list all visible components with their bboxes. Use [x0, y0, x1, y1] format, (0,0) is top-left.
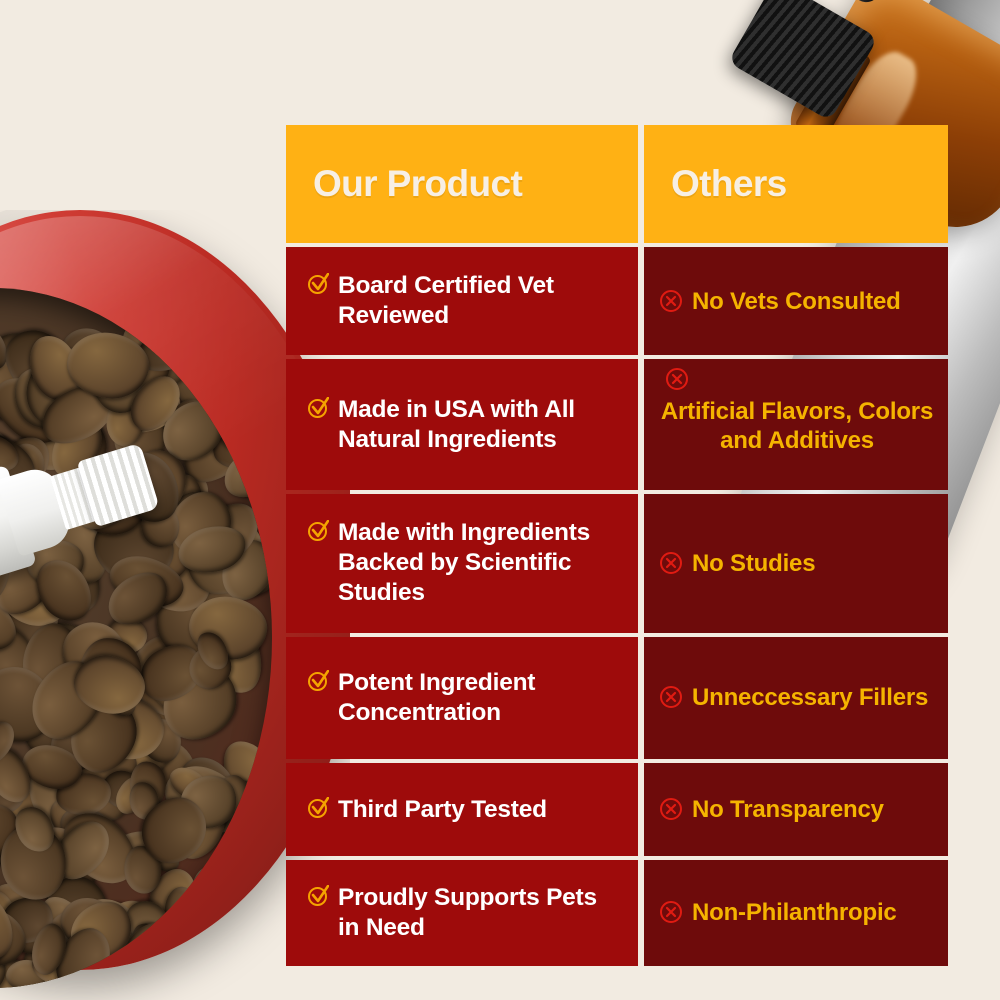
pro-label: Made with Ingredients Backed by Scientif… [338, 518, 620, 608]
check-circle-icon [308, 887, 331, 910]
pro-label: Third Party Tested [338, 795, 547, 825]
check-circle-icon [308, 799, 331, 822]
header-label-others: Others [644, 163, 787, 205]
pro-cell: Made in USA with All Natural Ingredients [286, 359, 638, 490]
pro-label: Potent Ingredient Concentration [338, 668, 620, 728]
comparison-table: Our Product Others Board Certified Vet R… [286, 125, 948, 966]
table-header-row: Our Product Others [286, 125, 948, 243]
infographic-canvas: h Norman! Our Product Others [0, 0, 1000, 1000]
con-label: Unneccessary Fillers [692, 683, 928, 712]
pro-cell: Proudly Supports Pets in Need [286, 860, 638, 966]
con-label: No Studies [692, 549, 815, 578]
header-cell-our-product: Our Product [286, 125, 638, 243]
table-row: Made with Ingredients Backed by Scientif… [286, 494, 948, 633]
check-circle-icon [308, 522, 331, 545]
kibble-bed [0, 288, 272, 988]
table-row: Board Certified Vet Reviewed No Vets Con… [286, 247, 948, 355]
x-circle-icon [660, 290, 685, 315]
pro-cell: Third Party Tested [286, 763, 638, 855]
header-cell-others: Others [644, 125, 948, 243]
con-label: No Vets Consulted [692, 287, 901, 316]
con-cell: No Transparency [644, 763, 948, 855]
pro-cell: Made with Ingredients Backed by Scientif… [286, 494, 638, 633]
table-row: Proudly Supports Pets in Need Non-Philan… [286, 860, 948, 966]
table-row: Third Party Tested No Transparency [286, 763, 948, 855]
con-cell: Unneccessary Fillers [644, 637, 948, 760]
x-circle-icon [660, 901, 685, 926]
con-cell: No Studies [644, 494, 948, 633]
pro-label: Board Certified Vet Reviewed [338, 271, 620, 331]
x-circle-icon [660, 686, 685, 711]
check-circle-icon [308, 672, 331, 695]
con-cell: Non-Philanthropic [644, 860, 948, 966]
check-circle-icon [308, 399, 331, 422]
con-cell: No Vets Consulted [644, 247, 948, 355]
kibble-piece [178, 948, 229, 988]
check-circle-icon [308, 275, 331, 298]
x-circle-icon [666, 368, 691, 393]
pro-cell: Potent Ingredient Concentration [286, 637, 638, 760]
con-label: Artificial Flavors, Colors and Additives [660, 397, 934, 455]
pro-label: Proudly Supports Pets in Need [338, 883, 620, 943]
header-label-our-product: Our Product [286, 163, 522, 205]
pro-cell: Board Certified Vet Reviewed [286, 247, 638, 355]
pro-label: Made in USA with All Natural Ingredients [338, 395, 620, 455]
con-label: No Transparency [692, 795, 884, 824]
table-row: Potent Ingredient Concentration Unnecces… [286, 637, 948, 760]
con-cell: Artificial Flavors, Colors and Additives [644, 359, 948, 490]
table-row: Made in USA with All Natural Ingredients… [286, 359, 948, 490]
con-label: Non-Philanthropic [692, 898, 897, 927]
x-circle-icon [660, 798, 685, 823]
x-circle-icon [660, 552, 685, 577]
